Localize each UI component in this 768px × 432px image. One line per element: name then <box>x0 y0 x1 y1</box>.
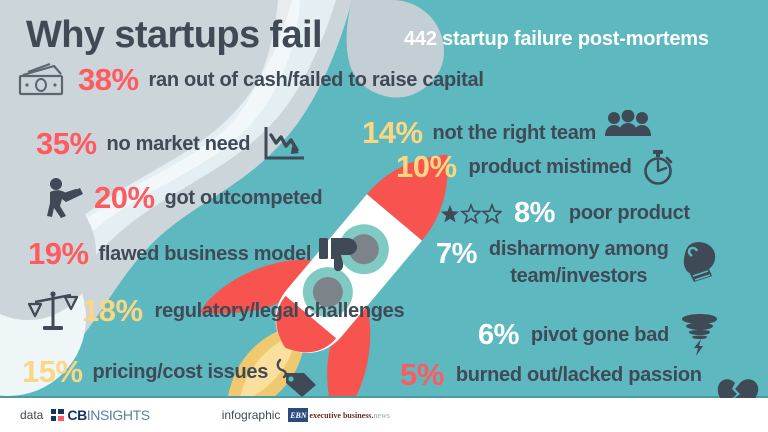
tornado-icon <box>679 313 719 357</box>
stat-percent: 14% <box>362 115 423 151</box>
price-tag-icon <box>274 357 318 399</box>
stat-row-poor-product: 8% poor product <box>440 197 690 230</box>
money-icon <box>14 62 70 98</box>
ebn-logo[interactable]: EBN executive business.news <box>288 408 389 422</box>
cbinsights-mark-icon <box>51 409 64 421</box>
stat-label: pivot gone bad <box>531 324 669 347</box>
stat-label: regulatory/legal challenges <box>155 300 405 323</box>
stat-label-line2: team/investors <box>489 265 669 288</box>
team-icon <box>604 110 652 142</box>
stat-percent: 10% <box>396 149 457 185</box>
stat-label: not the right team <box>433 122 597 145</box>
thumbs-down-icon <box>317 234 359 274</box>
stat-label: ran out of cash/failed to raise capital <box>149 69 484 92</box>
stat-percent: 15% <box>22 354 83 390</box>
stat-percent: 19% <box>28 236 89 272</box>
declining-chart-icon <box>260 124 308 164</box>
stat-percent: 20% <box>94 180 155 216</box>
stat-label: burned out/lacked passion <box>456 364 702 387</box>
stat-percent: 6% <box>478 319 519 352</box>
stat-label: pricing/cost issues <box>93 361 268 384</box>
stat-row-pricing-cost-issues: 15% pricing/cost issues <box>22 345 318 399</box>
stat-label: flawed business model <box>99 243 312 266</box>
stat-label: disharmony among <box>489 238 669 261</box>
footer-bar: data CBINSIGHTS infographic EBN executiv… <box>0 398 768 432</box>
boxing-glove-icon <box>679 240 719 286</box>
stat-percent: 18% <box>82 293 143 329</box>
stat-row-burned-out: 5% burned out/lacked passion <box>400 357 702 393</box>
star-rating-icon <box>440 203 502 225</box>
stat-row-disharmony: 7% disharmony among team/investors <box>436 238 719 288</box>
stopwatch-icon <box>640 148 676 186</box>
stat-percent: 35% <box>36 126 97 162</box>
page-subtitle: 442 startup failure post-mortems <box>404 28 709 51</box>
cbinsights-insights: INSIGHTS <box>87 407 150 423</box>
ebn-wordmark: executive business.news <box>309 411 389 420</box>
stat-row-got-outcompeted: 20% got outcompeted <box>42 175 322 221</box>
stat-row-product-mistimed: 10% product mistimed <box>396 148 676 186</box>
stat-label: poor product <box>569 202 690 225</box>
stat-percent: 38% <box>78 62 139 98</box>
page-title: Why startups fail <box>26 14 322 57</box>
cbinsights-logo[interactable]: CBINSIGHTS <box>51 407 149 423</box>
stat-percent: 7% <box>436 238 477 271</box>
ebn-wordmark-suffix: news <box>373 411 389 420</box>
stat-row-no-market-need: 35% no market need <box>36 124 308 164</box>
stat-label: got outcompeted <box>165 187 323 210</box>
karate-kick-icon <box>42 175 88 221</box>
footer-data-label: data <box>20 408 43 422</box>
footer-infographic-label: infographic <box>222 408 281 422</box>
stat-row-regulatory-legal: 18% regulatory/legal challenges <box>28 288 404 334</box>
stat-label: no market need <box>107 133 251 156</box>
stat-percent: 8% <box>514 197 555 230</box>
ebn-wordmark-main: executive business. <box>309 411 373 420</box>
scales-of-justice-icon <box>28 288 78 334</box>
cbinsights-cb: CB <box>67 407 86 423</box>
stat-percent: 5% <box>400 357 444 393</box>
stat-label: product mistimed <box>469 156 632 179</box>
stat-row-pivot-gone-bad: 6% pivot gone bad <box>478 313 719 357</box>
cbinsights-wordmark: CBINSIGHTS <box>67 407 149 423</box>
stat-row-ran-out-of-cash: 38% ran out of cash/failed to raise capi… <box>14 62 484 98</box>
stat-row-flawed-business-model: 19% flawed business model <box>28 234 359 274</box>
infographic-canvas: Why startups fail 442 startup failure po… <box>0 0 768 432</box>
ebn-mark-icon: EBN <box>288 408 308 422</box>
